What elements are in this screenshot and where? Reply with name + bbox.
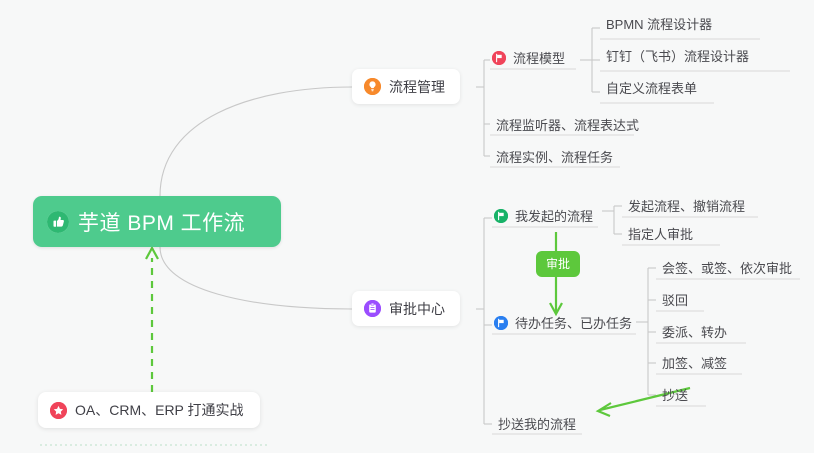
leaf-cc-to-me[interactable]: 抄送我的流程 [494,412,586,438]
leaf-assignee-approval[interactable]: 指定人审批 [624,222,703,248]
wire-root-to-process [160,87,352,196]
leaf-cc[interactable]: 抄送 [658,383,698,409]
leaf-countersign[interactable]: 会签、或签、依次审批 [658,256,802,282]
branch-node-approval-center[interactable]: 审批中心 [352,291,460,326]
flag-icon [494,209,508,223]
clipboard-icon [364,300,381,317]
leaf-dingtalk-designer[interactable]: 钉钉（飞书）流程设计器 [602,44,759,70]
star-icon [50,402,67,419]
leaf-custom-form[interactable]: 自定义流程表单 [602,76,707,102]
leaf-label: 我发起的流程 [515,206,593,225]
branch-node-process-management[interactable]: 流程管理 [352,69,460,104]
leaf-label: 流程模型 [513,48,565,67]
leaf-process-model[interactable]: 流程模型 [492,46,575,72]
branch-label-approval-center: 审批中心 [389,299,445,319]
flag-icon [494,316,508,330]
leaf-todo-done-tasks[interactable]: 待办任务、已办任务 [494,311,642,337]
root-label: 芋道 BPM 工作流 [78,207,245,237]
leaf-delegate-transfer[interactable]: 委派、转办 [658,320,737,346]
leaf-add-remove-sign[interactable]: 加签、减签 [658,351,737,377]
root-node[interactable]: 芋道 BPM 工作流 [33,196,281,247]
lightbulb-icon [364,78,381,95]
leaf-process-listener[interactable]: 流程监听器、流程表达式 [492,113,649,139]
leaf-bpmn-designer[interactable]: BPMN 流程设计器 [602,12,722,38]
dashed-arrow-head [146,248,158,259]
leaf-process-instance[interactable]: 流程实例、流程任务 [492,145,623,171]
note-card-label: OA、CRM、ERP 打通实战 [75,400,244,420]
flag-icon [492,51,506,65]
leaf-reject[interactable]: 驳回 [658,288,698,314]
cc-arrow-head [598,403,611,416]
mindmap-canvas: 芋道 BPM 工作流 流程管理 审批中心 [0,0,814,453]
leaf-label: 待办任务、已办任务 [515,313,632,332]
leaf-my-initiated[interactable]: 我发起的流程 [494,204,603,230]
thumbs-up-icon [47,211,69,233]
branch-label-process-management: 流程管理 [389,77,445,97]
approval-annotation-chip: 审批 [536,251,580,277]
leaf-start-cancel-process[interactable]: 发起流程、撤销流程 [624,194,755,220]
wire-root-to-approval [160,247,352,309]
note-card-integration[interactable]: OA、CRM、ERP 打通实战 [38,392,260,428]
